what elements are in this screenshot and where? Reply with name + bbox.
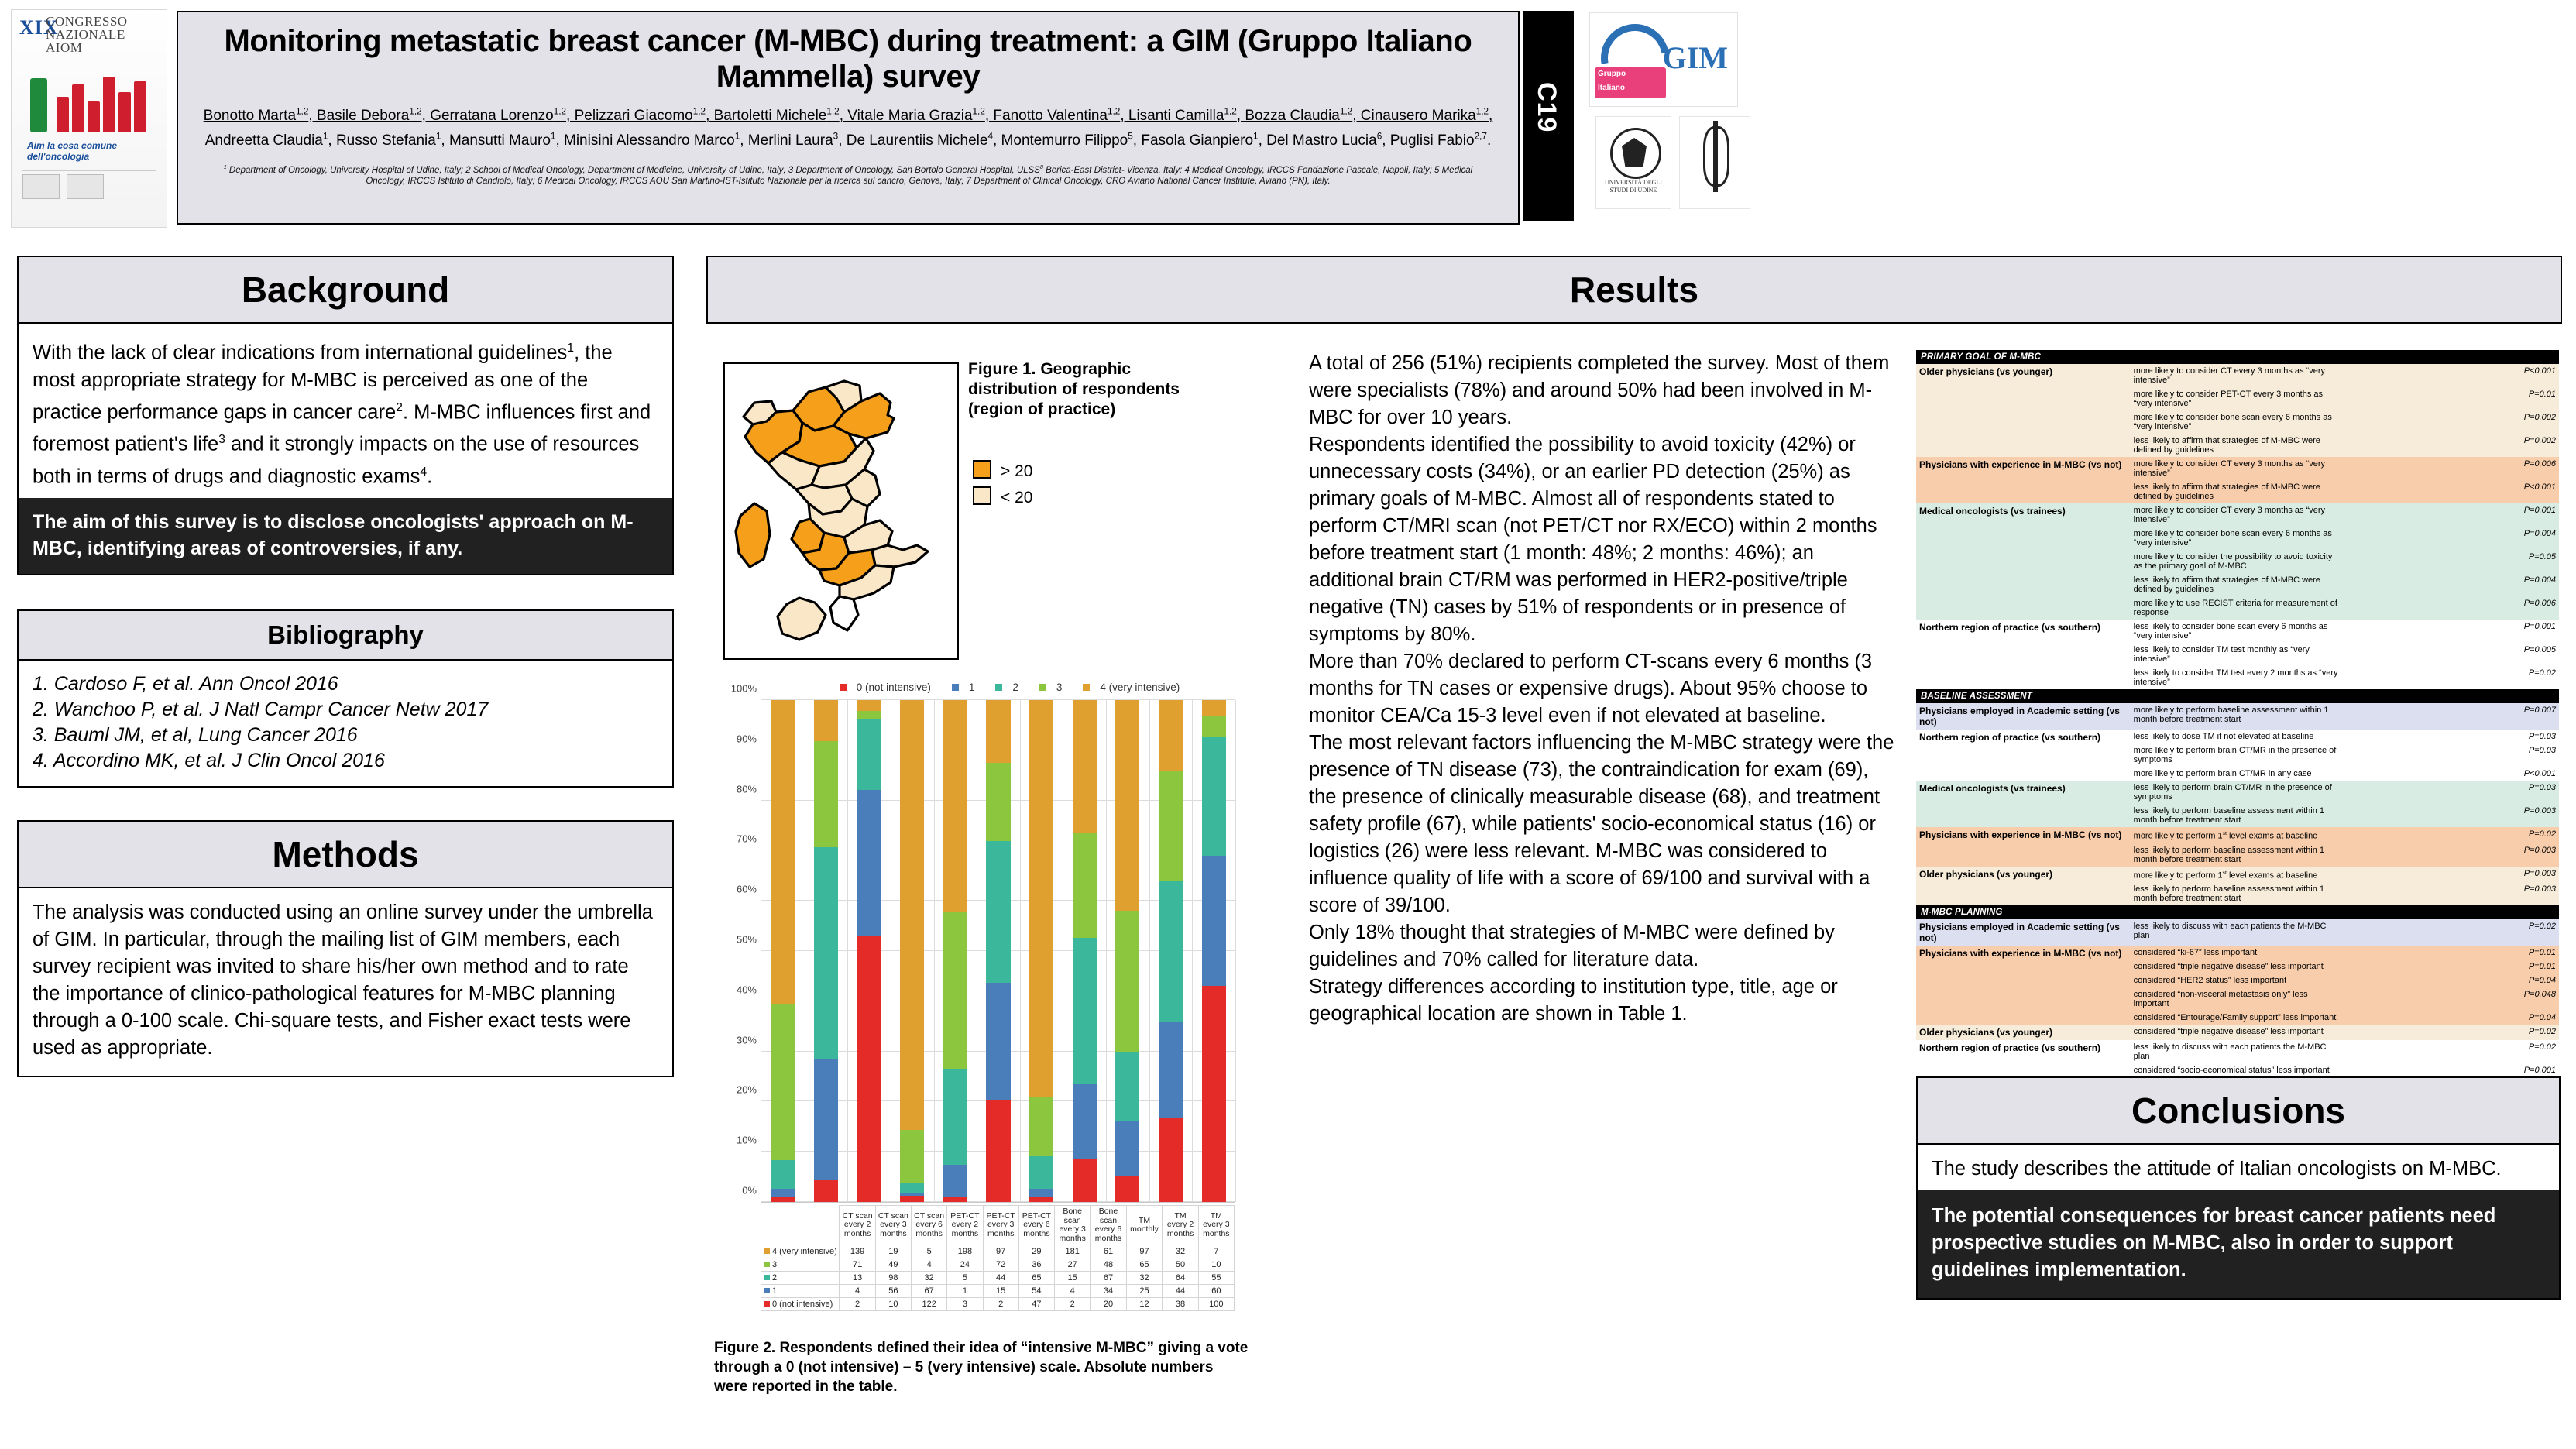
chart-table-cell: 97 [1126, 1245, 1163, 1258]
table1-pvalue: P=0.001 [2344, 620, 2559, 643]
chart-bar-segment [900, 700, 924, 1130]
table1-pvalue: P=0.02 [2344, 827, 2559, 843]
legend-swatch-gt20-icon [973, 460, 991, 479]
chart-stacked-bar [814, 700, 838, 1202]
chart-table-row: 3714942472362748655010 [761, 1258, 1235, 1272]
table1-statement: considered “triple negative disease” les… [2131, 960, 2345, 973]
chart-table-cell: 98 [875, 1272, 911, 1285]
chart-stacked-bar [1029, 700, 1053, 1202]
chart-table-cell: 32 [1126, 1272, 1163, 1285]
chart-table-swatch-icon [764, 1248, 770, 1254]
table1-row: Northern region of practice (vs southern… [1916, 620, 2559, 643]
chart-table-column-header: Bone scan every 6 months [1091, 1206, 1126, 1245]
chart-legend: 0 (not intensive)1234 (very intensive) [781, 682, 1245, 693]
table1: PRIMARY GOAL OF M-MBCOlder physicians (v… [1916, 350, 2559, 1114]
chart-table-cell: 122 [912, 1298, 947, 1311]
chart-table-swatch-icon [764, 1288, 770, 1293]
chart-stacked-bar [771, 700, 795, 1202]
chart-table-cell: 72 [983, 1258, 1018, 1272]
chart-bar-segment [814, 700, 838, 741]
chart-y-tick-label: 50% [737, 934, 757, 946]
table1-group-label: Physicians with experience in M-MBC (vs … [1916, 827, 2131, 867]
chart-legend-item: 0 (not intensive) [840, 682, 938, 693]
conclusions-body: The study describes the attitude of Ital… [1916, 1145, 2561, 1190]
chart-table-row: 4 (very intensive)1391951989729181619732… [761, 1245, 1235, 1258]
chart-stacked-bar [1159, 700, 1183, 1202]
legend-item-lt20: < 20 [973, 485, 1032, 511]
table1-row: Older physicians (vs younger)more likely… [1916, 867, 2559, 883]
chart-table-cell: 55 [1198, 1272, 1234, 1285]
chart-table-corner [761, 1206, 840, 1245]
chart-table-row-header: 1 [761, 1285, 840, 1298]
chart-bar-segment [986, 1100, 1010, 1202]
aiom-nazionale-label: NAZIONALE [46, 28, 128, 41]
table1-statement: less likely to consider TM test every 2 … [2131, 666, 2345, 689]
chart-bar-segment [943, 1197, 967, 1202]
chart-table-row-header: 2 [761, 1272, 840, 1285]
legend-label-gt20: > 20 [1001, 462, 1032, 480]
chart-table-row-header: 3 [761, 1258, 840, 1272]
page-title: Monitoring metastatic breast cancer (M-M… [189, 23, 1507, 94]
chart-bar-segment [814, 847, 838, 1059]
chart-stacked-bar [900, 700, 924, 1202]
university-logo: UNIVERSITÀ DEGLI STUDI DI UDINE [1595, 116, 1671, 209]
chart-table-header-row: CT scan every 2 monthsCT scan every 3 mo… [761, 1206, 1235, 1245]
left-column: Background With the lack of clear indica… [17, 256, 674, 1077]
table1-pvalue: P=0.003 [2344, 882, 2559, 905]
chart-table-cell: 44 [983, 1272, 1018, 1285]
chart-bar-segment [986, 841, 1010, 982]
aiom-green-bar [30, 78, 47, 132]
table1-statement: less likely to affirm that strategies of… [2131, 434, 2345, 457]
table1-group-label: Medical oncologists (vs trainees) [1916, 781, 2131, 827]
poster-root: XIX CONGRESSO NAZIONALE AIOM Aim la cosa… [0, 0, 2576, 1449]
chart-bar-segment [857, 711, 881, 719]
chart-bar-column [977, 700, 1020, 1202]
table1-statement: less likely to affirm that strategies of… [2131, 480, 2345, 503]
chart-legend-item: 4 (very intensive) [1083, 682, 1187, 693]
chart-bar-segment [814, 1180, 838, 1202]
table1-row: Physicians employed in Academic setting … [1916, 703, 2559, 730]
results-paragraph: Only 18% thought that strategies of M-MB… [1309, 919, 1898, 973]
chart-bar-segment [1202, 856, 1226, 986]
chart-table-cell: 139 [840, 1245, 875, 1258]
italy-map [723, 362, 959, 660]
table1-pvalue: P=0.04 [2344, 973, 2559, 987]
chart-table-cell: 4 [1055, 1285, 1091, 1298]
section-title-bibliography: Bibliography [17, 609, 674, 661]
bibliography-item: 2. Wanchoo P, et al. J Natl Campr Cancer… [33, 697, 658, 723]
chart-bar-segment [1029, 1097, 1053, 1155]
results-paragraph: More than 70% declared to perform CT-sca… [1309, 648, 1898, 730]
chart-stacked-bar [1073, 700, 1097, 1202]
results-paragraph: A total of 256 (51%) recipients complete… [1309, 350, 1898, 431]
results-paragraph: The most relevant factors influencing th… [1309, 730, 1898, 919]
table1-row: Medical oncologists (vs trainees)less li… [1916, 781, 2559, 804]
chart-table-cell: 13 [840, 1272, 875, 1285]
chart-table-cell: 50 [1163, 1258, 1198, 1272]
chart-table-column-header: PET-CT every 2 months [947, 1206, 983, 1245]
chart-table-column-header: TM every 2 months [1163, 1206, 1198, 1245]
chart-bar-segment [771, 1004, 795, 1160]
table1-row: Older physicians (vs younger)more likely… [1916, 364, 2559, 387]
bibliography-item: 4. Accordino MK, et al. J Clin Oncol 201… [33, 748, 658, 774]
chart-bar-segment [1202, 700, 1226, 716]
chart-bar-segment [1029, 700, 1053, 1097]
chart-bar-segment [1159, 881, 1183, 1022]
table1-row: Medical oncologists (vs trainees)more li… [1916, 503, 2559, 527]
chart-bar-segment [1202, 737, 1226, 857]
table1-statement: more likely to consider CT every 3 month… [2131, 503, 2345, 527]
results-paragraph: Strategy differences according to instit… [1309, 973, 1898, 1028]
chart-legend-label: 1 [969, 682, 975, 693]
chart-table-cell: 47 [1018, 1298, 1054, 1311]
table1-pvalue: P=0.04 [2344, 1011, 2559, 1025]
chart-table-cell: 64 [1163, 1272, 1198, 1285]
table1-pvalue: P=0.001 [2344, 503, 2559, 527]
chart-bar-segment [857, 790, 881, 936]
results-paragraph: Respondents identified the possibility t… [1309, 431, 1898, 648]
chart-table-column-header: Bone scan every 3 months [1055, 1206, 1091, 1245]
chart-y-tick-label: 40% [737, 984, 757, 995]
chart-table-cell: 4 [912, 1258, 947, 1272]
aiom-tagline-line1: Aim la cosa comune [27, 140, 117, 151]
chart-table-cell: 4 [840, 1285, 875, 1298]
sponsor-badge-1 [22, 174, 60, 199]
chart-table-cell: 67 [912, 1285, 947, 1298]
table1-group-label: Northern region of practice (vs southern… [1916, 1040, 2131, 1077]
chart-bar-segment [1159, 1118, 1183, 1202]
chart-legend-swatch-icon [952, 684, 959, 691]
chart-legend-label: 4 (very intensive) [1100, 682, 1180, 693]
author-list: Bonotto Marta1,2, Basile Debora1,2, Gerr… [198, 102, 1498, 151]
table1-statement: more likely to consider bone scan every … [2131, 410, 2345, 434]
aiom-tagline: Aim la cosa comune dell'oncologia [27, 140, 117, 162]
chart-table-cell: 3 [947, 1298, 983, 1311]
chart-bar-segment [857, 719, 881, 789]
table1-statement: more likely to perform brain CT/MR in th… [2131, 743, 2345, 767]
chart-table-cell: 2 [840, 1298, 875, 1311]
table1-pvalue: P=0.05 [2344, 550, 2559, 573]
chart-bar-segment [1073, 700, 1097, 833]
chart-bar-segment [900, 1193, 924, 1196]
chart-table-cell: 2 [1055, 1298, 1091, 1311]
table1-pvalue: P<0.001 [2344, 364, 2559, 387]
chart-table-cell: 34 [1091, 1285, 1126, 1298]
table1-pvalue: P=0.005 [2344, 643, 2559, 666]
aiom-skyline-graphic [26, 58, 149, 132]
chart-bar-segment [1073, 1084, 1097, 1159]
table1-group-label: Physicians with experience in M-MBC (vs … [1916, 946, 2131, 1025]
university-logo-text: UNIVERSITÀ DEGLI STUDI DI UDINE [1596, 179, 1671, 194]
table1-group-label: Medical oncologists (vs trainees) [1916, 503, 2131, 620]
chart-table-cell: 10 [875, 1298, 911, 1311]
chart-table-cell: 38 [1163, 1298, 1198, 1311]
gim-wordmark: GIM [1663, 39, 1728, 76]
chart-legend-swatch-icon [1039, 684, 1046, 691]
chart-bar-segment [986, 763, 1010, 841]
chart-bar-column [1020, 700, 1063, 1202]
aiom-stripe-4 [103, 77, 115, 132]
table1-pvalue: P=0.03 [2344, 743, 2559, 767]
table1-statement: less likely to affirm that strategies of… [2131, 573, 2345, 596]
chart-bar-segment [943, 912, 967, 1069]
chart-bar-segment [900, 1183, 924, 1193]
chart-table-row-header: 4 (very intensive) [761, 1245, 840, 1258]
table1-section-row: PRIMARY GOAL OF M-MBC [1916, 350, 2559, 364]
table1-pvalue: P=0.01 [2344, 946, 2559, 960]
table1-pvalue: P=0.001 [2344, 1063, 2559, 1077]
table1-statement: more likely to perform baseline assessme… [2131, 703, 2345, 730]
table1-group-label: Older physicians (vs younger) [1916, 364, 2131, 457]
section-title-conclusions: Conclusions [1916, 1076, 2561, 1145]
chart-table-cell: 7 [1198, 1245, 1234, 1258]
table1-pvalue: P=0.003 [2344, 843, 2559, 867]
section-title-methods: Methods [17, 820, 674, 888]
table1-statement: more likely to consider CT every 3 month… [2131, 364, 2345, 387]
figure2-block: 0 (not intensive)1234 (very intensive) 0… [711, 682, 1253, 1410]
legend-item-gt20: > 20 [973, 458, 1032, 485]
chart-stacked-bar [857, 700, 881, 1202]
institute-logo [1679, 116, 1750, 209]
chart-bar-segment [1073, 833, 1097, 938]
chart-table-column-header: PET-CT every 6 months [1018, 1206, 1054, 1245]
chart-bar-column [761, 700, 805, 1202]
italy-map-svg [728, 367, 954, 655]
chart-table-row-label: 1 [772, 1286, 777, 1296]
chart-table-swatch-icon [764, 1262, 770, 1267]
chart-table-column-header: TM monthly [1126, 1206, 1163, 1245]
background-aim-callout: The aim of this survey is to disclose on… [17, 498, 674, 575]
table1-statement: more likely to consider bone scan every … [2131, 527, 2345, 550]
table1-statement: less likely to discuss with each patient… [2131, 1040, 2345, 1063]
chart-table-cell: 27 [1055, 1258, 1091, 1272]
chart-bar-column [891, 700, 934, 1202]
chart-table-cell: 36 [1018, 1258, 1054, 1272]
table1-pvalue: P=0.007 [2344, 703, 2559, 730]
chart-stacked-bar [1115, 700, 1139, 1202]
table1-row: Physicians with experience in M-MBC (vs … [1916, 827, 2559, 843]
chart-table-row-label: 2 [772, 1273, 777, 1282]
chart-bar-segment [771, 1160, 795, 1189]
chart-bar-segment [986, 983, 1010, 1100]
chart-table-cell: 49 [875, 1258, 911, 1272]
bibliography-item: 1. Cardoso F, et al. Ann Oncol 2016 [33, 671, 658, 697]
chart-y-tick-label: 20% [737, 1084, 757, 1096]
table1-group-label: Physicians with experience in M-MBC (vs … [1916, 457, 2131, 503]
table1-statement: more likely to perform 1st level exams a… [2131, 827, 2345, 843]
chart-table-row: 0 (not intensive)21012232472201238100 [761, 1298, 1235, 1311]
chart-table-cell: 29 [1018, 1245, 1054, 1258]
poster-number-label: C19 [1531, 82, 1561, 132]
chart-bar-segment [814, 741, 838, 847]
chart-stacked-bar [943, 700, 967, 1202]
chart-column-divider [1235, 700, 1236, 1202]
chart-table-cell: 15 [983, 1285, 1018, 1298]
table1-statement: less likely to perform brain CT/MR in th… [2131, 781, 2345, 804]
chart-y-tick-label: 10% [737, 1135, 757, 1146]
chart-y-tick-label: 0% [742, 1185, 757, 1197]
chart-bar-segment [986, 700, 1010, 763]
chart-table-row-label: 3 [772, 1260, 777, 1269]
table1-statement: more likely to consider the possibility … [2131, 550, 2345, 573]
gim-badge-line3: Mammella [1595, 95, 1666, 109]
table1-row: Older physicians (vs younger)considered … [1916, 1025, 2559, 1040]
table1-statement: considered “triple negative disease” les… [2131, 1025, 2345, 1040]
table1-pvalue: P<0.001 [2344, 480, 2559, 503]
sponsor-badge-2 [67, 174, 104, 199]
table1-pvalue: P=0.048 [2344, 987, 2559, 1011]
chart-table-cell: 71 [840, 1258, 875, 1272]
figure1-caption: Figure 1. Geographic distribution of res… [968, 359, 1224, 420]
chart-bar-segment [857, 700, 881, 711]
methods-body: The analysis was conducted using an onli… [17, 888, 674, 1077]
table1-pvalue: P=0.004 [2344, 573, 2559, 596]
chart-bar-segment [1115, 700, 1139, 911]
table1-section-title: PRIMARY GOAL OF M-MBC [1916, 350, 2559, 364]
chart-table-cell: 54 [1018, 1285, 1054, 1298]
aiom-tagline-line2: dell'oncologia [27, 151, 117, 162]
chart-bar-segment [771, 1189, 795, 1197]
chart-table-cell: 5 [912, 1245, 947, 1258]
table1-pvalue: P=0.002 [2344, 410, 2559, 434]
chart-bar-segment [1159, 771, 1183, 881]
chart-table-cell: 67 [1091, 1272, 1126, 1285]
aiom-congress-logo: XIX CONGRESSO NAZIONALE AIOM Aim la cosa… [11, 9, 167, 228]
table1-section-row: M-MBC PLANNING [1916, 905, 2559, 919]
chart-y-tick-label: 100% [731, 683, 757, 695]
bibliography-body: 1. Cardoso F, et al. Ann Oncol 2016 2. W… [17, 661, 674, 788]
table1-statement: more likely to perform brain CT/MR in an… [2131, 767, 2345, 781]
chart-stacked-bar [1202, 700, 1226, 1202]
chart-table-cell: 24 [947, 1258, 983, 1272]
aiom-stripe-5 [118, 92, 131, 132]
chart-bar-segment [1115, 1176, 1139, 1202]
chart-y-tick-label: 60% [737, 884, 757, 895]
chart-table-cell: 61 [1091, 1245, 1126, 1258]
background-body: With the lack of clear indications from … [17, 324, 674, 498]
table1-row: Northern region of practice (vs southern… [1916, 1040, 2559, 1063]
table1-pvalue: P=0.02 [2344, 1025, 2559, 1040]
figure1-legend: > 20 < 20 [973, 458, 1032, 511]
chart-bar-segment [943, 1165, 967, 1197]
aiom-congress-text: CONGRESSO NAZIONALE AIOM [46, 15, 128, 54]
chart-table-cell: 15 [1055, 1272, 1091, 1285]
table1-pvalue: P=0.01 [2344, 960, 2559, 973]
chart-bar-segment [1202, 986, 1226, 1202]
table1-pvalue: P=0.02 [2344, 1040, 2559, 1063]
chart-table-cell: 181 [1055, 1245, 1091, 1258]
table1-pvalue: P=0.03 [2344, 781, 2559, 804]
legend-swatch-lt20-icon [973, 486, 991, 505]
chart-table-cell: 1 [947, 1285, 983, 1298]
table1-pvalue: P=0.003 [2344, 804, 2559, 827]
chart-stacked-bar [986, 700, 1010, 1202]
table1-group-label: Physicians employed in Academic setting … [1916, 919, 2131, 946]
legend-label-lt20: < 20 [1001, 489, 1032, 506]
chart-bar-segment [900, 1130, 924, 1182]
chart-legend-item: 2 [995, 682, 1025, 693]
table1-statement: more likely to consider CT every 3 month… [2131, 457, 2345, 480]
chart-y-tick-label: 70% [737, 833, 757, 845]
chart-legend-label: 2 [1012, 682, 1018, 693]
table1-statement: considered “Entourage/Family support” le… [2131, 1011, 2345, 1025]
chart-legend-swatch-icon [1083, 684, 1090, 691]
conclusions-highlight: The potential consequences for breast ca… [1916, 1190, 2561, 1300]
chart-y-tick-label: 30% [737, 1034, 757, 1046]
chart-table-cell: 97 [983, 1245, 1018, 1258]
chart-table-cell: 20 [1091, 1298, 1126, 1311]
poster-header: XIX CONGRESSO NAZIONALE AIOM Aim la cosa… [0, 0, 2576, 232]
chart-bar-segment [771, 1197, 795, 1202]
chart-bar-segment [1115, 1121, 1139, 1176]
conclusions-column: Conclusions The study describes the atti… [1916, 1076, 2561, 1300]
chart-legend-label: 0 (not intensive) [857, 682, 931, 693]
table1-statement: more likely to consider PET-CT every 3 m… [2131, 387, 2345, 410]
table1-group-label: Older physicians (vs younger) [1916, 867, 2131, 906]
table1-group-label: Northern region of practice (vs southern… [1916, 730, 2131, 781]
section-title-background: Background [17, 256, 674, 324]
chart-table-row-label: 0 (not intensive) [772, 1300, 833, 1309]
table1-row: Northern region of practice (vs southern… [1916, 730, 2559, 743]
chart-legend-swatch-icon [840, 684, 847, 691]
chart-bar-segment [857, 936, 881, 1202]
table1-statement: considered “socio-economical status” les… [2131, 1063, 2345, 1077]
table1-statement: considered “ki-67” less important [2131, 946, 2345, 960]
table1-pvalue: P=0.02 [2344, 919, 2559, 946]
chart-table-row: 14566711554434254460 [761, 1285, 1235, 1298]
table1-row: Physicians with experience in M-MBC (vs … [1916, 946, 2559, 960]
table1-statement: more likely to use RECIST criteria for m… [2131, 596, 2345, 620]
chart-table-cell: 56 [875, 1285, 911, 1298]
table1-statement: considered “HER2 status” less important [2131, 973, 2345, 987]
chart-legend-label: 3 [1056, 682, 1063, 693]
table1-row: Physicians with experience in M-MBC (vs … [1916, 457, 2559, 480]
chart-table-cell: 25 [1126, 1285, 1163, 1298]
chart-table-row-label: 4 (very intensive) [772, 1247, 837, 1256]
aiom-stripe-6 [134, 81, 146, 132]
table1-pvalue: P=0.002 [2344, 434, 2559, 457]
chart-legend-item: 1 [952, 682, 982, 693]
table1-pvalue: P<0.001 [2344, 767, 2559, 781]
aiom-stripe-2 [72, 84, 84, 132]
table1-pvalue: P=0.006 [2344, 457, 2559, 480]
table1-row: Physicians employed in Academic setting … [1916, 919, 2559, 946]
chart-table-column-header: CT scan every 2 months [840, 1206, 875, 1245]
chart-bar-segment [943, 1069, 967, 1165]
aiom-sponsor-strip [22, 170, 156, 219]
aiom-stripe-3 [88, 101, 100, 132]
table1-statement: considered “non-visceral metastasis only… [2131, 987, 2345, 1011]
table1-block: PRIMARY GOAL OF M-MBCOlder physicians (v… [1916, 350, 2559, 1152]
bibliography-item: 3. Bauml JM, et al, Lung Cancer 2016 [33, 723, 658, 748]
chart-table-column-header: CT scan every 3 months [875, 1206, 911, 1245]
chart-table-column-header: PET-CT every 3 months [983, 1206, 1018, 1245]
chart-table-cell: 2 [983, 1298, 1018, 1311]
chart-table-cell: 198 [947, 1245, 983, 1258]
poster-number-badge: C19 [1523, 11, 1574, 221]
table1-pvalue: P=0.01 [2344, 387, 2559, 410]
table1-statement: less likely to dose TM if not elevated a… [2131, 730, 2345, 743]
title-block: Monitoring metastatic breast cancer (M-M… [177, 11, 1520, 225]
table1-statement: more likely to perform 1st level exams a… [2131, 867, 2345, 883]
chart-table-cell: 65 [1126, 1258, 1163, 1272]
section-title-results: Results [706, 256, 2562, 324]
chart-bar-segment [1073, 938, 1097, 1084]
chart-y-tick-label: 80% [737, 783, 757, 795]
aiom-congresso-label: CONGRESSO [46, 15, 128, 28]
table1-statement: less likely to perform baseline assessme… [2131, 843, 2345, 867]
